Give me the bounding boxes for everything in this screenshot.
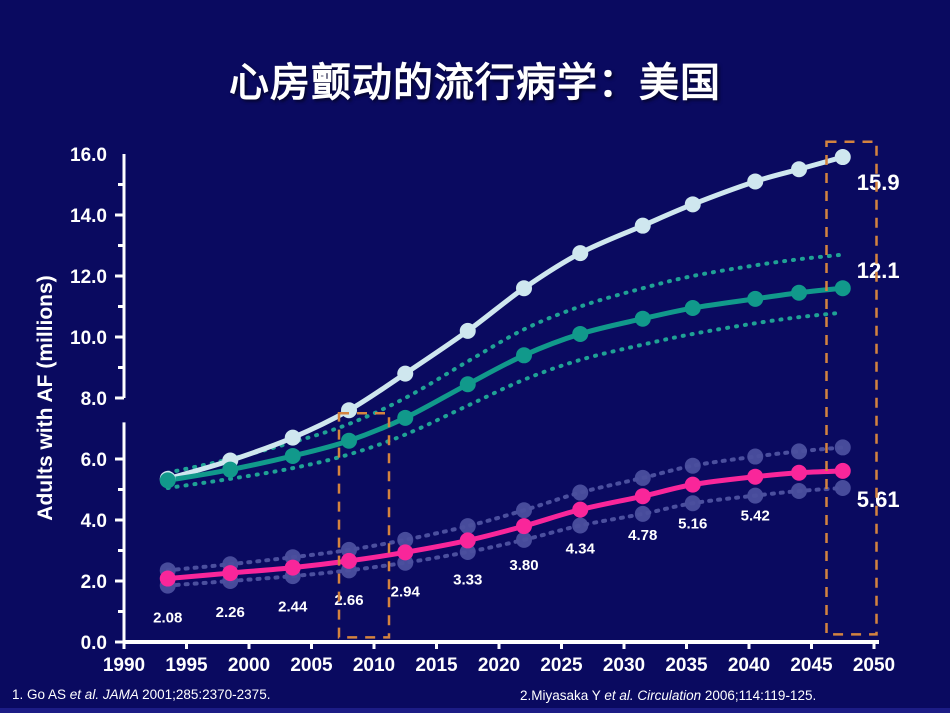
ci-marker — [835, 439, 851, 455]
data-point — [685, 477, 701, 493]
footnote-1-journal: et al. JAMA — [70, 687, 142, 702]
ci-marker — [791, 483, 807, 499]
point-label-pink: 3.80 — [509, 557, 538, 574]
data-point — [516, 280, 532, 296]
x-tick-label: 2025 — [540, 655, 583, 676]
ci-marker — [516, 532, 532, 548]
data-point — [791, 161, 807, 177]
data-point — [222, 565, 238, 581]
y-tick-label: 0.0 — [81, 633, 107, 654]
ci-marker — [747, 488, 763, 504]
line-chart: 0.02.04.06.08.010.012.014.016.0199019952… — [0, 130, 950, 680]
page-title: 心房颤动的流行病学：美国 — [0, 50, 950, 108]
y-tick-label: 10.0 — [70, 328, 107, 349]
footnote-1-citation: 2001;285:2370-2375. — [142, 687, 270, 702]
x-tick-label: 2005 — [290, 655, 333, 676]
data-point — [397, 410, 413, 426]
data-point — [222, 462, 238, 478]
data-point — [747, 291, 763, 307]
data-point — [516, 347, 532, 363]
data-point — [572, 245, 588, 261]
y-tick-label: 6.0 — [81, 450, 107, 471]
data-point — [341, 402, 357, 418]
ci-marker — [635, 506, 651, 522]
x-tick-label: 2030 — [603, 655, 645, 676]
data-point — [285, 560, 301, 576]
ci-marker — [685, 495, 701, 511]
x-tick-label: 1990 — [103, 655, 145, 676]
data-point — [835, 280, 851, 296]
footnote-2-journal: et al. Circulation — [604, 688, 705, 703]
ci-marker — [635, 470, 651, 486]
footnote-2-number: 2. — [520, 688, 531, 703]
point-label-pink: 4.78 — [628, 527, 657, 544]
data-point — [835, 149, 851, 165]
data-point — [516, 518, 532, 534]
point-label-pink: 5.16 — [678, 516, 707, 533]
data-point — [285, 430, 301, 446]
footnote-2-citation: 2006;114:119-125. — [705, 688, 816, 703]
x-tick-label: 2010 — [353, 655, 395, 676]
footnote-1-number: 1. — [12, 687, 27, 702]
ci-marker — [572, 485, 588, 501]
point-label-pink: 4.34 — [566, 541, 596, 558]
ci-marker — [460, 518, 476, 534]
data-point — [397, 366, 413, 382]
point-label-pink: 3.33 — [453, 571, 482, 588]
y-tick-label: 16.0 — [70, 145, 107, 166]
x-tick-label: 2000 — [228, 655, 270, 676]
end-label: 15.9 — [857, 170, 900, 195]
x-tick-label: 2050 — [853, 655, 895, 676]
ci-marker — [747, 449, 763, 465]
x-tick-label: 2020 — [478, 655, 520, 676]
y-tick-label: 8.0 — [81, 389, 107, 410]
line-upper-projection-(miyasaka,-go) — [168, 157, 843, 479]
y-tick-label: 2.0 — [81, 572, 107, 593]
x-tick-label: 1995 — [165, 655, 208, 676]
y-tick-label: 4.0 — [81, 511, 107, 532]
point-label-pink: 2.26 — [216, 604, 245, 621]
point-label-pink: 2.44 — [278, 599, 308, 616]
y-axis-title: Adults with AF (millions) — [34, 275, 57, 520]
data-point — [285, 448, 301, 464]
ci-marker — [791, 443, 807, 459]
y-tick-label: 12.0 — [70, 267, 107, 288]
data-point — [160, 571, 176, 587]
data-point — [572, 326, 588, 342]
chart-container: 0.02.04.06.08.010.012.014.016.0199019952… — [0, 130, 950, 680]
data-point — [747, 469, 763, 485]
data-point — [460, 532, 476, 548]
data-point — [635, 488, 651, 504]
x-tick-label: 2015 — [415, 655, 458, 676]
data-point — [460, 376, 476, 392]
line-middle-projection — [168, 288, 843, 480]
data-point — [572, 502, 588, 518]
point-label-pink: 5.42 — [741, 508, 770, 525]
footnote-reference-1: 1. Go AS et al. JAMA 2001;285:2370-2375. — [12, 687, 270, 702]
data-point — [835, 463, 851, 479]
end-label: 12.1 — [857, 258, 900, 283]
data-point — [791, 465, 807, 481]
data-point — [685, 300, 701, 316]
x-tick-label: 2040 — [728, 655, 770, 676]
ci-marker — [572, 517, 588, 533]
highlight-box-2050 — [827, 142, 877, 635]
ci-marker — [835, 480, 851, 496]
x-tick-label: 2045 — [790, 655, 833, 676]
footnote-1-authors: Go AS — [27, 687, 70, 702]
data-point — [747, 173, 763, 189]
footnote-reference-2: 2.Miyasaka Y et al. Circulation 2006;114… — [520, 688, 816, 703]
footnote-2-authors: Miyasaka Y — [531, 688, 604, 703]
line-af-prevalence-(go) — [168, 471, 843, 579]
data-point — [460, 323, 476, 339]
data-point — [341, 553, 357, 569]
y-tick-label: 14.0 — [70, 206, 107, 227]
ci-marker — [685, 458, 701, 474]
point-label-pink: 2.08 — [153, 610, 182, 627]
end-label: 5.61 — [857, 487, 900, 512]
point-label-pink: 2.94 — [391, 583, 421, 600]
x-tick-label: 2035 — [665, 655, 708, 676]
data-point — [397, 544, 413, 560]
data-point — [791, 285, 807, 301]
data-point — [160, 472, 176, 488]
data-point — [341, 433, 357, 449]
bottom-rule — [0, 708, 950, 713]
data-point — [635, 311, 651, 327]
slide-canvas: 心房颤动的流行病学：美国 0.02.04.06.08.010.012.014.0… — [0, 0, 950, 713]
ci-marker — [516, 502, 532, 518]
data-point — [635, 218, 651, 234]
data-point — [685, 196, 701, 212]
